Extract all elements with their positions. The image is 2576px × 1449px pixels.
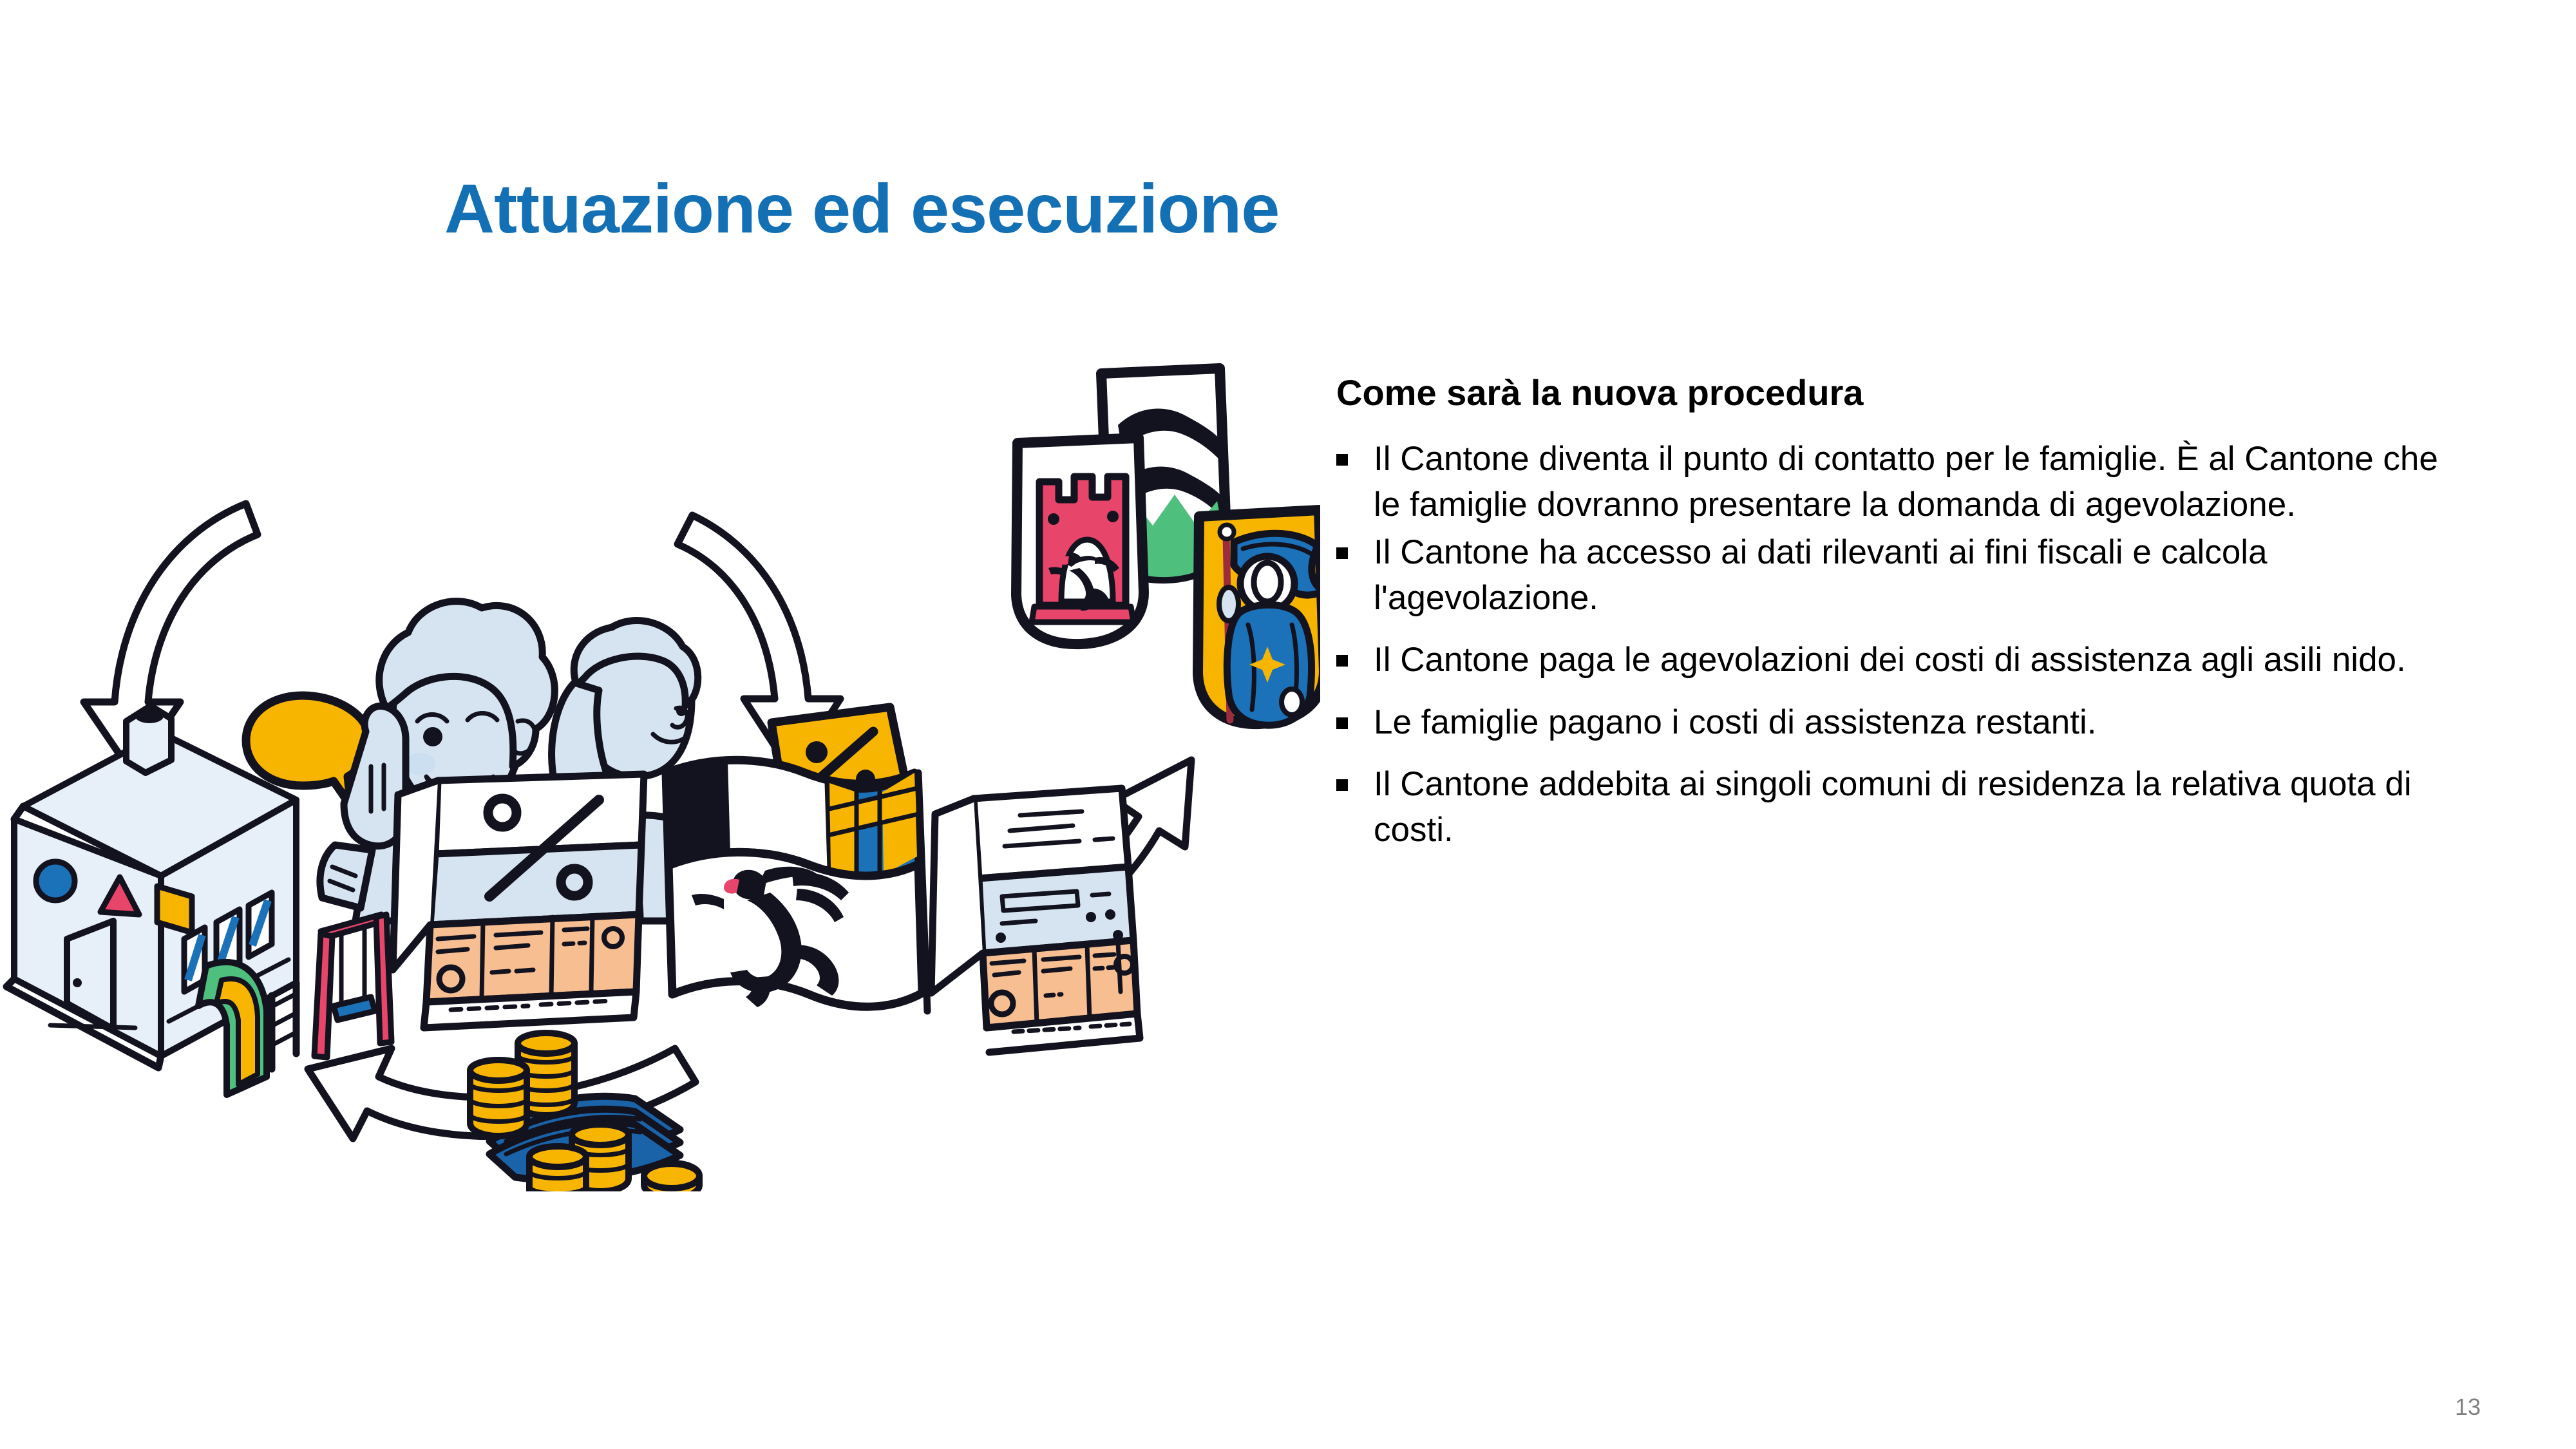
list-item: Le famiglie pagano i costi di assistenza… — [1336, 700, 2470, 745]
cycle-illustration: .ol { fill:none; stroke:#13121F; stroke-… — [0, 322, 1320, 1191]
list-item: Il Cantone addebita ai singoli comuni di… — [1336, 762, 2470, 853]
coat-of-arms-castle — [1016, 438, 1144, 644]
swing-set — [314, 914, 392, 1057]
bullet-text: Il Cantone addebita ai singoli comuni di… — [1374, 762, 2470, 853]
content-heading: Come sarà la nuova procedura — [1336, 372, 2470, 413]
coat-of-arms-knight — [1198, 510, 1320, 725]
list-item: Il Cantone diventa il punto di contatto … — [1336, 437, 2470, 527]
square-bullet-icon — [1336, 655, 1348, 667]
bullet-text: Il Cantone paga le agevolazioni dei cost… — [1374, 638, 2470, 683]
content-panel: Come sarà la nuova procedura Il Cantone … — [1336, 372, 2470, 869]
square-bullet-icon — [1336, 454, 1348, 466]
list-item: Il Cantone ha accesso ai dati rilevanti … — [1336, 530, 2470, 621]
tax-document — [931, 788, 1140, 1052]
square-bullet-icon — [1336, 779, 1348, 791]
square-bullet-icon — [1336, 547, 1348, 559]
coin-stack-4 — [529, 1146, 586, 1191]
square-bullet-icon — [1336, 717, 1348, 729]
bullet-text: Il Cantone ha accesso ai dati rilevanti … — [1374, 530, 2470, 621]
bullet-text: Il Cantone diventa il punto di contatto … — [1374, 437, 2470, 527]
percent-form — [393, 774, 644, 1028]
single-coin — [644, 1163, 699, 1191]
coats-of-arms — [1016, 368, 1320, 725]
graubunden-flag — [666, 760, 927, 1011]
coin-stack-2 — [470, 1060, 527, 1136]
page-number: 13 — [2455, 1394, 2481, 1421]
page-title: Attuazione ed esecuzione — [444, 171, 1279, 247]
bullet-text: Le famiglie pagano i costi di assistenza… — [1374, 700, 2470, 745]
list-item: Il Cantone paga le agevolazioni dei cost… — [1336, 638, 2470, 683]
